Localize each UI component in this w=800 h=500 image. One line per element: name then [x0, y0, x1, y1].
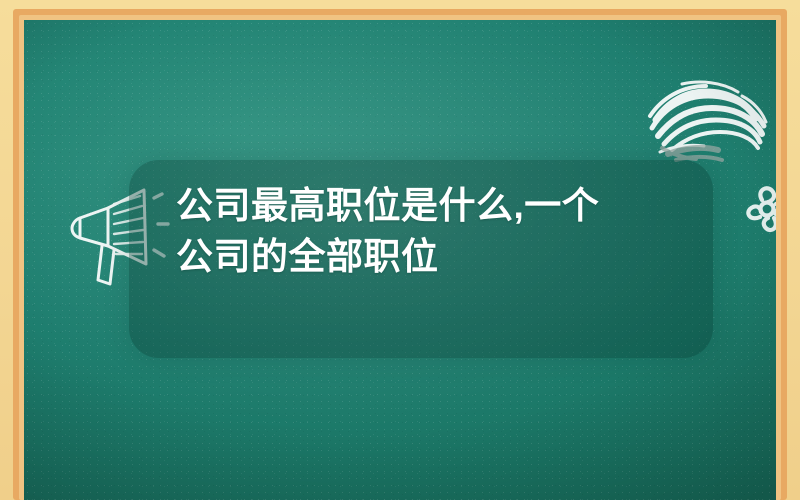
cloud-scribble-doodle	[642, 62, 776, 174]
page-title: 公司最高职位是什么,一个公司的全部职位	[176, 180, 676, 282]
banner-image: 公司最高职位是什么,一个公司的全部职位	[0, 0, 800, 500]
headline-line-1: 公司最高职位是什么,一个	[176, 185, 599, 226]
headline-line-2: 公司的全部职位	[176, 236, 439, 277]
flower-doodle-1	[738, 180, 776, 238]
